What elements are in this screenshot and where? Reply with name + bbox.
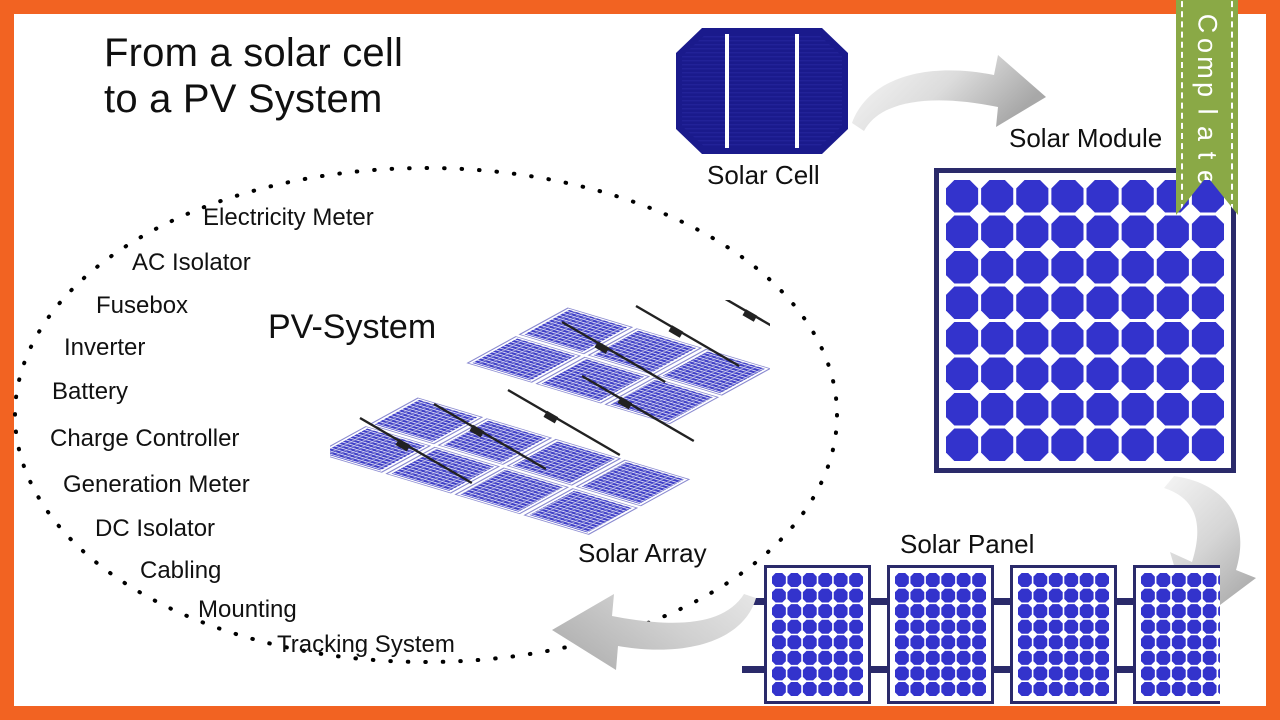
solar-array-label: Solar Array <box>578 538 707 569</box>
arrow-panel-to-array-icon <box>548 580 763 680</box>
list-item: Tracking System <box>277 631 455 659</box>
ribbon-letter: a <box>1196 126 1218 144</box>
list-item: AC Isolator <box>132 249 251 277</box>
solar-module-label: Solar Module <box>1009 123 1162 154</box>
list-item: Fusebox <box>96 292 188 320</box>
list-item: Electricity Meter <box>203 204 374 232</box>
solar-cell-label: Solar Cell <box>707 160 820 191</box>
list-item: Mounting <box>198 596 297 624</box>
ribbon-letter: C <box>1196 14 1218 37</box>
border-top <box>0 0 1280 14</box>
ribbon-letter: t <box>1196 152 1218 163</box>
list-item: Inverter <box>64 334 145 362</box>
list-item: Battery <box>52 378 128 406</box>
ribbon-label: Complate <box>1176 14 1238 194</box>
solar-panel-label: Solar Panel <box>900 529 1034 560</box>
list-item: Generation Meter <box>63 471 250 499</box>
list-item: DC Isolator <box>95 515 215 543</box>
ribbon-letter: o <box>1196 38 1218 56</box>
solar-panel-graphic <box>742 562 1220 712</box>
ribbon-letter: m <box>1196 56 1218 82</box>
list-item: Charge Controller <box>50 425 239 453</box>
solar-module-graphic <box>934 168 1236 478</box>
ribbon-letter: l <box>1196 109 1218 118</box>
solar-cell-graphic <box>676 28 848 159</box>
page-title: From a solar cell to a PV System <box>104 30 624 122</box>
slide-canvas: From a solar cell to a PV System PV-Syst… <box>0 0 1280 720</box>
list-item: Cabling <box>140 557 221 585</box>
ribbon-letter: p <box>1196 82 1218 100</box>
